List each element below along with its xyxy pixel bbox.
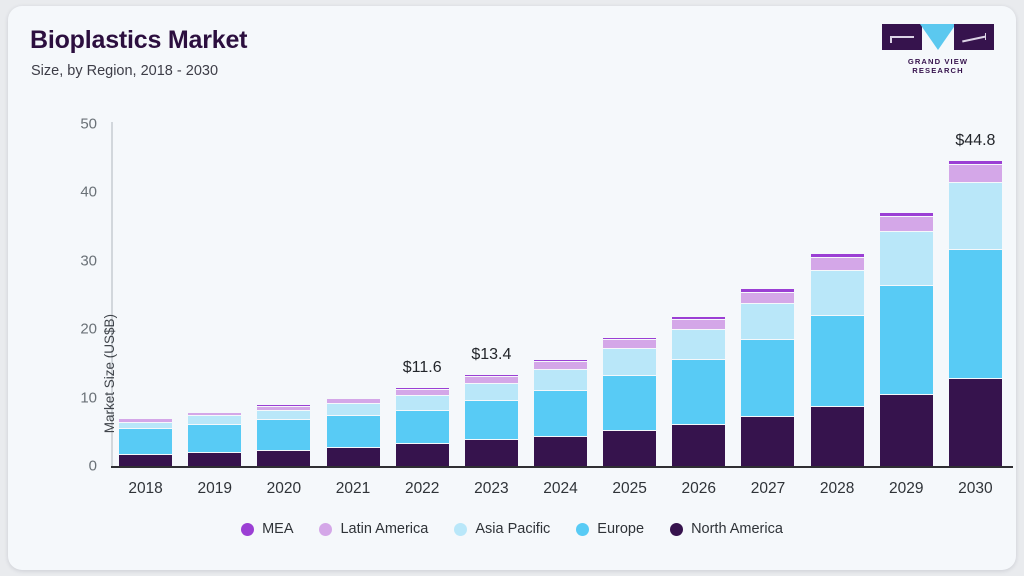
bar-stack[interactable] (119, 417, 172, 466)
bar-segment[interactable] (880, 394, 933, 467)
bar-stack[interactable] (188, 411, 241, 466)
bar-segment[interactable] (534, 361, 587, 369)
y-axis-tick: 40 (80, 184, 97, 201)
bar-segment[interactable] (257, 419, 310, 450)
bar-segment[interactable] (811, 270, 864, 315)
x-axis-tick: 2027 (751, 480, 785, 498)
legend-color-swatch-icon (319, 523, 332, 536)
x-axis-tick: 2019 (197, 480, 231, 498)
bar-segment[interactable] (188, 415, 241, 423)
legend-label: North America (691, 521, 783, 537)
bar-stack[interactable] (880, 212, 933, 466)
y-axis-tick: 0 (89, 458, 97, 475)
bar-segment[interactable] (327, 447, 380, 466)
x-axis-tick: 2020 (267, 480, 301, 498)
bar-segment[interactable] (327, 403, 380, 415)
bar-segment[interactable] (396, 395, 449, 410)
bar-segment[interactable] (188, 452, 241, 466)
x-axis-tick: 2028 (820, 480, 854, 498)
logo-marks (882, 24, 994, 52)
bar-stack[interactable] (741, 288, 794, 466)
bar-stack[interactable] (257, 404, 310, 466)
bar-stack[interactable] (327, 397, 380, 466)
bar-segment[interactable] (949, 378, 1002, 466)
x-axis-line (111, 466, 1013, 468)
x-axis-tick: 2025 (612, 480, 646, 498)
bar-segment[interactable] (465, 400, 518, 440)
x-axis-tick: 2023 (474, 480, 508, 498)
legend-color-swatch-icon (670, 523, 683, 536)
bar-segment[interactable] (672, 319, 725, 329)
x-axis-tick: 2021 (336, 480, 370, 498)
chart-card: Bioplastics Market Size, by Region, 2018… (8, 6, 1016, 570)
legend-color-swatch-icon (454, 523, 467, 536)
bar-segment[interactable] (534, 369, 587, 390)
bar-segment[interactable] (603, 348, 656, 375)
bar-segment[interactable] (672, 329, 725, 360)
bar-stack[interactable] (672, 316, 725, 466)
bar-segment[interactable] (741, 339, 794, 416)
bar-segment[interactable] (811, 406, 864, 466)
legend-item[interactable]: MEA (241, 521, 293, 537)
chart-subtitle: Size, by Region, 2018 - 2030 (31, 63, 218, 79)
bar-segment[interactable] (465, 439, 518, 466)
bar-segment[interactable] (880, 285, 933, 394)
bar-stack[interactable] (603, 337, 656, 466)
bar-segment[interactable] (465, 383, 518, 400)
page-title: Bioplastics Market (30, 26, 247, 55)
bar-segment[interactable] (811, 315, 864, 406)
x-axis-tick: 2018 (128, 480, 162, 498)
x-axis-tick: 2022 (405, 480, 439, 498)
x-axis-tick: 2030 (958, 480, 992, 498)
bar-segment[interactable] (119, 428, 172, 454)
bar-segment[interactable] (327, 415, 380, 446)
bar-segment[interactable] (257, 450, 310, 466)
bar-segment[interactable] (741, 303, 794, 340)
logo-left-rect-icon (882, 24, 922, 50)
logo-triangle-icon (920, 24, 956, 50)
legend-item[interactable]: North America (670, 521, 783, 537)
logo-text: GRAND VIEW RESEARCH (882, 57, 994, 75)
legend-label: Europe (597, 521, 644, 537)
plot-area: Market Size (US$B) 01020304050 (111, 124, 1010, 466)
bar-segment[interactable] (257, 410, 310, 419)
bar-segment[interactable] (672, 359, 725, 423)
page-root: Bioplastics Market Size, by Region, 2018… (0, 0, 1024, 576)
legend-color-swatch-icon (241, 523, 254, 536)
y-axis-tick: 50 (80, 116, 97, 133)
grand-view-research-logo: GRAND VIEW RESEARCH (882, 24, 994, 75)
chart-legend: MEALatin AmericaAsia PacificEuropeNorth … (8, 521, 1016, 537)
logo-right-rect-icon (954, 24, 994, 50)
bar-stack[interactable] (534, 359, 587, 466)
x-axis-tick: 2026 (682, 480, 716, 498)
bar-value-label: $11.6 (403, 359, 442, 377)
x-axis-tick: 2029 (889, 480, 923, 498)
bar-segment[interactable] (949, 164, 1002, 182)
legend-color-swatch-icon (576, 523, 589, 536)
bar-segment[interactable] (880, 216, 933, 231)
bar-segment[interactable] (811, 257, 864, 270)
bar-segment[interactable] (949, 249, 1002, 378)
bar-segment[interactable] (119, 422, 172, 429)
bar-segment[interactable] (603, 339, 656, 348)
bar-segment[interactable] (534, 436, 587, 466)
legend-label: Latin America (340, 521, 428, 537)
legend-label: MEA (262, 521, 293, 537)
legend-label: Asia Pacific (475, 521, 550, 537)
bar-segment[interactable] (603, 430, 656, 466)
bar-segment[interactable] (741, 416, 794, 466)
bar-value-label: $13.4 (471, 346, 511, 364)
x-axis-tick: 2024 (543, 480, 577, 498)
bar-stack[interactable] (949, 160, 1002, 466)
y-axis-tick: 10 (80, 389, 97, 406)
legend-item[interactable]: Europe (576, 521, 644, 537)
bar-segment[interactable] (603, 375, 656, 430)
bar-segment[interactable] (880, 231, 933, 285)
bar-segment[interactable] (672, 424, 725, 466)
y-axis-title: Market Size (US$B) (102, 314, 117, 433)
y-axis-tick: 30 (80, 252, 97, 269)
bar-segment[interactable] (741, 292, 794, 303)
bar-segment[interactable] (534, 390, 587, 436)
bar-value-label: $44.8 (955, 132, 995, 150)
y-axis-tick: 20 (80, 321, 97, 338)
legend-item[interactable]: Latin America (319, 521, 428, 537)
bar-segment[interactable] (396, 443, 449, 466)
bar-stack[interactable] (465, 374, 518, 466)
bar-segment[interactable] (188, 424, 241, 452)
bar-segment[interactable] (119, 454, 172, 466)
legend-item[interactable]: Asia Pacific (454, 521, 550, 537)
bar-segment[interactable] (396, 410, 449, 444)
bar-segment[interactable] (949, 182, 1002, 248)
bar-stack[interactable] (811, 253, 864, 466)
bar-stack[interactable] (396, 387, 449, 466)
